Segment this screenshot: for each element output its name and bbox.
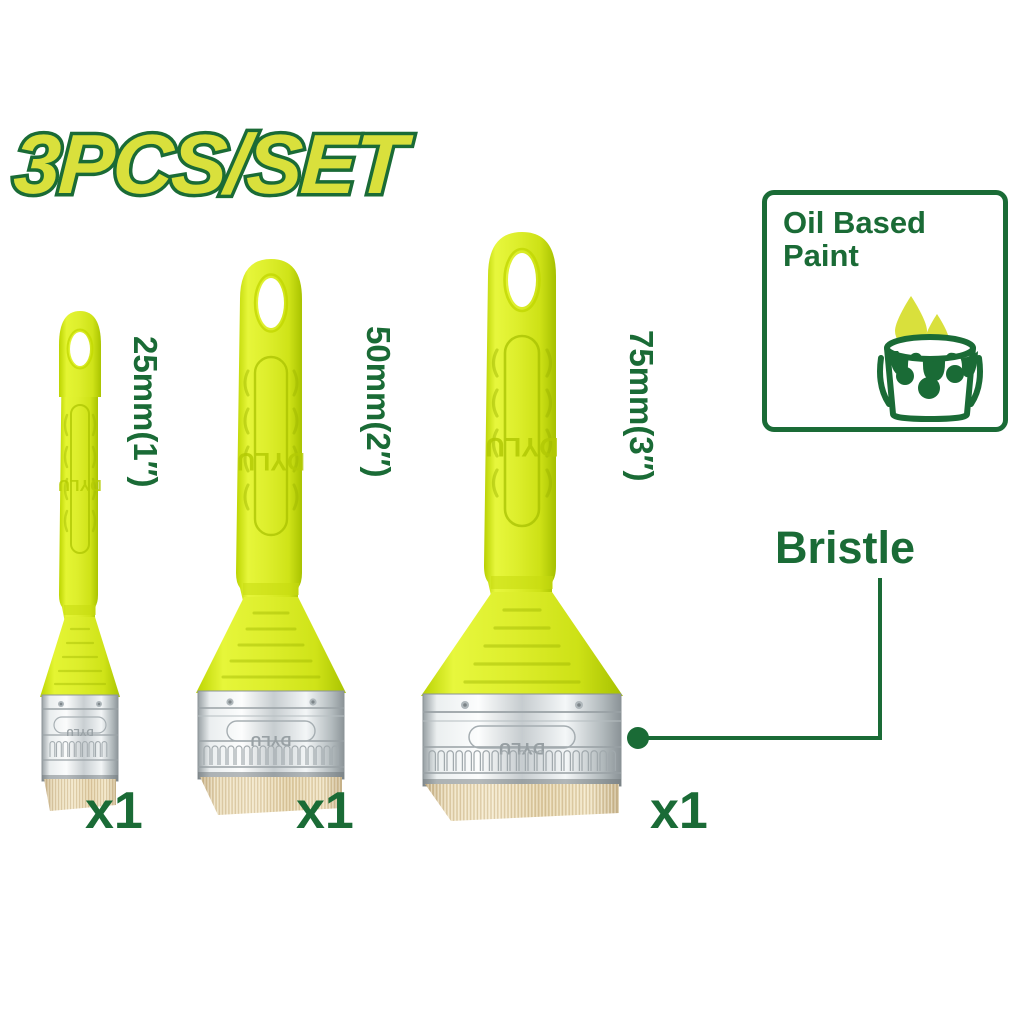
handle-75mm: DYLU — [421, 232, 623, 696]
brush-75mm: DYLU DYLU — [395, 226, 645, 826]
quantity-label-75mm: x1 — [650, 785, 708, 837]
badge-label: Oil Based Paint — [783, 207, 926, 273]
quantity-label-50mm: x1 — [296, 785, 354, 837]
oil-based-paint-badge: Oil Based Paint — [762, 190, 1008, 432]
size-label-50mm: 50mm(2″) — [359, 326, 397, 478]
handle-brand-25mm: DYLU — [58, 476, 102, 493]
callout-leader-horizontal — [638, 736, 882, 740]
hang-hole-50mm — [258, 278, 284, 328]
badge-label-line1: Oil Based — [783, 207, 926, 240]
hang-hole-75mm — [508, 253, 536, 307]
bristles-75mm — [425, 784, 619, 821]
handle-25mm: DYLU — [40, 311, 120, 697]
handle-brand-75mm: DYLU — [485, 432, 559, 462]
ferrule-brand-25mm: DYLU — [66, 726, 93, 737]
size-label-75mm: 75mm(3″) — [622, 330, 660, 482]
brush-50mm: DYLU DYLU — [177, 253, 367, 818]
quantity-label-25mm: x1 — [85, 785, 143, 837]
paint-bucket-icon — [867, 288, 997, 423]
callout-leader-vertical — [878, 578, 882, 740]
hang-hole-25mm — [70, 332, 90, 366]
ferrule-brand-75mm: DYLU — [499, 739, 545, 758]
ferrule-50mm: DYLU — [198, 691, 344, 779]
badge-label-line2: Paint — [783, 240, 926, 273]
bristle-callout-label: Bristle — [775, 522, 915, 574]
ferrule-25mm: DYLU — [42, 695, 118, 781]
page-title: 3PCS/SET — [12, 122, 407, 206]
handle-50mm: DYLU — [196, 259, 346, 693]
callout-anchor-dot — [627, 727, 649, 749]
product-image-canvas: 3PCS/SET — [0, 0, 1024, 1024]
size-label-25mm: 25mm(1″) — [126, 336, 164, 488]
ferrule-75mm: DYLU — [423, 694, 621, 786]
handle-brand-50mm: DYLU — [237, 447, 305, 475]
